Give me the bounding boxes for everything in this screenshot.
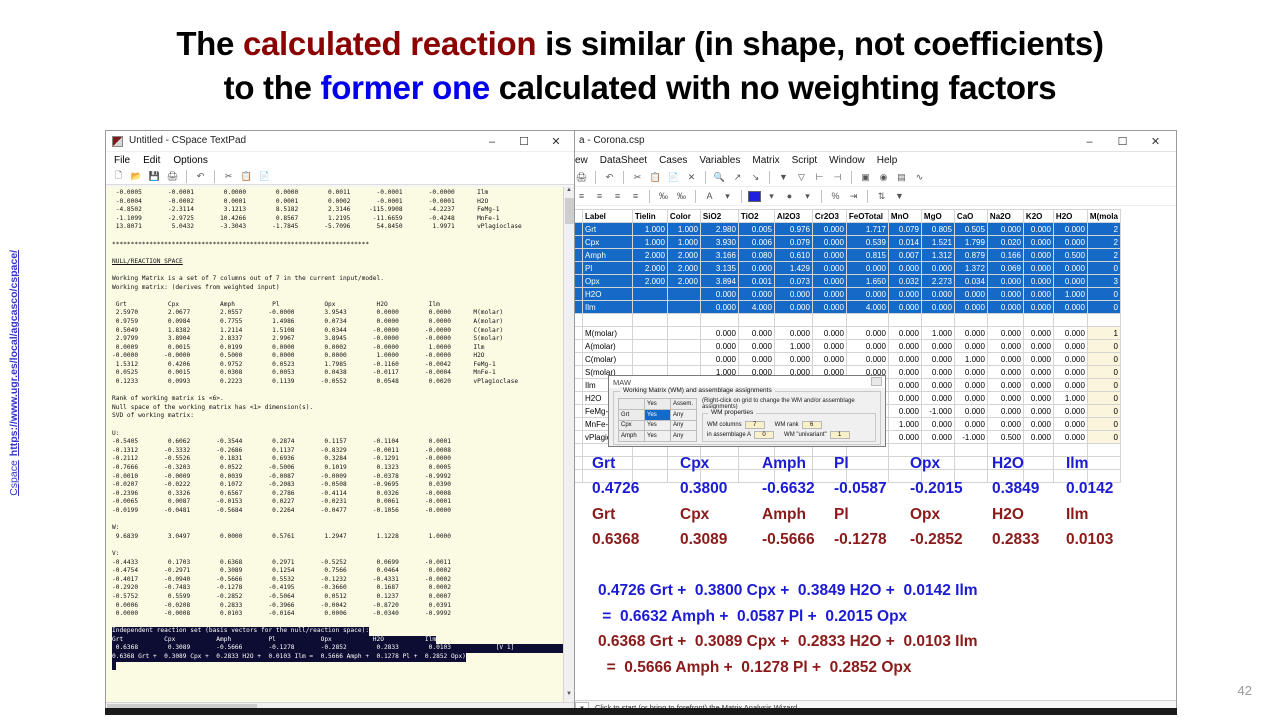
undo-icon[interactable]: ↶ xyxy=(193,169,208,184)
sort-az-icon[interactable]: ⇅ xyxy=(874,189,889,204)
cell-value[interactable]: 1.717 xyxy=(846,223,888,236)
cell-value[interactable]: 0.000 xyxy=(738,340,774,353)
cell-value[interactable]: 0.000 xyxy=(1053,431,1087,444)
cell-value[interactable]: 2.273 xyxy=(921,275,954,288)
cell-label[interactable]: C(molar) xyxy=(583,353,633,366)
cell-value[interactable]: 0.000 xyxy=(846,340,888,353)
align-right-icon[interactable]: ≡ xyxy=(610,189,625,204)
cell-value[interactable]: 1.000 xyxy=(921,327,954,340)
table-row[interactable]: H2O0.0000.0000.0000.0000.0000.0000.0000.… xyxy=(572,288,1121,301)
print-icon[interactable]: 🖨 xyxy=(165,169,180,184)
menu-script[interactable]: Script xyxy=(792,155,818,166)
cell-value[interactable]: 0.006 xyxy=(738,236,774,249)
cell-empty[interactable] xyxy=(1053,314,1087,327)
column-header-label[interactable]: Label xyxy=(583,210,633,223)
paste-icon[interactable]: 📄 xyxy=(666,170,681,185)
find-icon[interactable]: 🔍 xyxy=(712,170,727,185)
cell-value[interactable]: 0.000 xyxy=(700,353,738,366)
chevron-down-icon[interactable]: ▾ xyxy=(720,189,735,204)
cell-value[interactable]: 0.000 xyxy=(846,353,888,366)
cell-value[interactable]: 0.000 xyxy=(987,340,1023,353)
table-row[interactable]: Pl2.0002.0003.1350.0001.4290.0000.0000.0… xyxy=(572,262,1121,275)
cell-value[interactable] xyxy=(667,288,700,301)
cell-value[interactable]: 0.000 xyxy=(987,353,1023,366)
cell-value[interactable]: 2.000 xyxy=(632,262,667,275)
cell-value[interactable] xyxy=(667,327,700,340)
cell-label[interactable]: Opx xyxy=(583,275,633,288)
copy-icon[interactable]: 📋 xyxy=(648,170,663,185)
close-icon[interactable]: ✕ xyxy=(1139,131,1172,152)
cell-empty[interactable] xyxy=(738,314,774,327)
percent-icon[interactable]: % xyxy=(828,189,843,204)
cell-value[interactable]: 0.000 xyxy=(921,366,954,379)
menu-file[interactable]: File xyxy=(114,155,130,166)
cell-value[interactable]: 0.000 xyxy=(774,327,812,340)
decimal-decrease-icon[interactable]: ‰ xyxy=(674,189,689,204)
cell-value[interactable]: 0.000 xyxy=(812,275,846,288)
insert-row-icon[interactable]: ⊢ xyxy=(812,170,827,185)
cell-value[interactable]: 0.000 xyxy=(700,301,738,314)
matrix-wizard-icon[interactable]: ▣ xyxy=(858,170,873,185)
maw-prop-value[interactable]: 0 xyxy=(754,431,774,439)
cell-label[interactable]: Pl xyxy=(583,262,633,275)
cell-value[interactable] xyxy=(667,301,700,314)
cell-value[interactable]: 0.000 xyxy=(846,262,888,275)
column-header-cr2o3[interactable]: Cr2O3 xyxy=(812,210,846,223)
cell-value[interactable]: 3.166 xyxy=(700,249,738,262)
cell-value[interactable]: 1.799 xyxy=(954,236,987,249)
maximize-icon[interactable]: ☐ xyxy=(1106,131,1139,152)
cell-value[interactable]: 2.000 xyxy=(667,249,700,262)
cell-value[interactable]: 0.000 xyxy=(888,431,921,444)
cell-value[interactable]: 0.815 xyxy=(846,249,888,262)
cell-value[interactable]: 0.079 xyxy=(774,236,812,249)
cell-value[interactable]: 0 xyxy=(1087,366,1120,379)
cell-label[interactable]: Ilm xyxy=(583,301,633,314)
cell-value[interactable]: 0.000 xyxy=(921,431,954,444)
cell-value[interactable]: 0.000 xyxy=(1053,236,1087,249)
cell-value[interactable]: 0.000 xyxy=(846,327,888,340)
cell-value[interactable]: 0.000 xyxy=(921,379,954,392)
cell-value[interactable]: 0 xyxy=(1087,431,1120,444)
cell-value[interactable]: 0.000 xyxy=(1023,262,1053,275)
cell-empty[interactable] xyxy=(888,314,921,327)
cell-value[interactable]: 0.000 xyxy=(987,366,1023,379)
cell-label[interactable]: H2O xyxy=(583,288,633,301)
column-header-mno[interactable]: MnO xyxy=(888,210,921,223)
table-row[interactable]: Amph Yes Any xyxy=(619,431,697,442)
minimize-icon[interactable]: – xyxy=(1073,131,1106,152)
cell-value[interactable]: 0.000 xyxy=(1053,327,1087,340)
cell-value[interactable]: 0.000 xyxy=(1023,249,1053,262)
cell-label[interactable]: M(molar) xyxy=(583,327,633,340)
cell-value[interactable]: 4.000 xyxy=(738,301,774,314)
table-row[interactable]: M(molar)0.0000.0000.0000.0000.0000.0001.… xyxy=(572,327,1121,340)
cell-value[interactable]: 0.069 xyxy=(987,262,1023,275)
save-disk-icon[interactable]: 💾 xyxy=(147,169,162,184)
cell-value[interactable]: 1.312 xyxy=(921,249,954,262)
cell-value[interactable]: 0.000 xyxy=(888,392,921,405)
cell-value[interactable]: 1.000 xyxy=(632,223,667,236)
cell-value[interactable]: 0.000 xyxy=(954,405,987,418)
cell-value[interactable]: 0.000 xyxy=(888,262,921,275)
cell-value[interactable]: 0.166 xyxy=(987,249,1023,262)
cell-empty[interactable] xyxy=(987,314,1023,327)
table-row[interactable]: Cpx Yes Any xyxy=(619,420,697,431)
sort-desc-icon[interactable]: ↘ xyxy=(748,170,763,185)
cell-value[interactable] xyxy=(632,288,667,301)
cell-value[interactable]: 1.000 xyxy=(954,353,987,366)
cell-value[interactable]: 0.000 xyxy=(987,301,1023,314)
cell-value[interactable] xyxy=(632,353,667,366)
cell-value[interactable]: 0.000 xyxy=(1023,379,1053,392)
cell-value[interactable]: 0.073 xyxy=(774,275,812,288)
cell-value[interactable]: 0 xyxy=(1087,392,1120,405)
cell-value[interactable]: 2 xyxy=(1087,236,1120,249)
open-folder-icon[interactable]: 📂 xyxy=(129,169,144,184)
maw-row-wm[interactable]: Yes xyxy=(645,420,671,431)
cell-value[interactable]: 0.000 xyxy=(812,249,846,262)
cell-value[interactable] xyxy=(632,301,667,314)
cell-value[interactable]: 0.000 xyxy=(921,288,954,301)
cell-empty[interactable] xyxy=(700,314,738,327)
cell-value[interactable]: 0.080 xyxy=(738,249,774,262)
cell-value[interactable]: 0.000 xyxy=(954,418,987,431)
cell-value[interactable]: 0.539 xyxy=(846,236,888,249)
cell-value[interactable]: 0.000 xyxy=(1023,418,1053,431)
table-row[interactable]: A(molar)0.0000.0001.0000.0000.0000.0000.… xyxy=(572,340,1121,353)
maw-row-assem[interactable]: Any xyxy=(671,409,697,420)
table-row[interactable]: Grt Yes Any xyxy=(619,409,697,420)
cell-label[interactable]: Cpx xyxy=(583,236,633,249)
scroll-up-icon[interactable]: ▲ xyxy=(564,187,574,198)
scrollbar-thumb[interactable] xyxy=(565,198,574,224)
cell-value[interactable]: 3 xyxy=(1087,275,1120,288)
align-center-icon[interactable]: ≡ xyxy=(592,189,607,204)
cell-value[interactable]: 0.000 xyxy=(812,340,846,353)
textpad-vertical-scrollbar[interactable]: ▲ ▼ xyxy=(563,187,574,702)
cell-value[interactable]: 0.000 xyxy=(738,353,774,366)
maw-row-assem[interactable]: Any xyxy=(671,420,697,431)
column-header-cao[interactable]: CaO xyxy=(954,210,987,223)
cell-value[interactable]: 0.000 xyxy=(1053,405,1087,418)
maw-row-wm[interactable]: Yes xyxy=(645,431,671,442)
cell-value[interactable]: 0.000 xyxy=(1023,340,1053,353)
cell-value[interactable]: 0.000 xyxy=(954,392,987,405)
cell-value[interactable]: 0.000 xyxy=(812,223,846,236)
color-swatch-blue[interactable] xyxy=(748,191,761,202)
cell-value[interactable]: 0.000 xyxy=(812,262,846,275)
close-icon[interactable]: ✕ xyxy=(540,131,572,152)
decimal-increase-icon[interactable]: ‰ xyxy=(656,189,671,204)
maw-close-icon[interactable] xyxy=(871,377,882,386)
cell-value[interactable]: 0.034 xyxy=(954,275,987,288)
cell-value[interactable]: 0.000 xyxy=(1053,223,1087,236)
cut-scissors-icon[interactable]: ✂ xyxy=(221,169,236,184)
cell-value[interactable]: 0.000 xyxy=(921,262,954,275)
cell-value[interactable]: 0.000 xyxy=(812,301,846,314)
menu-matrix[interactable]: Matrix xyxy=(752,155,779,166)
maw-prop-value[interactable]: 7 xyxy=(745,421,765,429)
cell-value[interactable]: 0.000 xyxy=(987,288,1023,301)
undo-icon[interactable]: ↶ xyxy=(602,170,617,185)
cell-value[interactable]: -1.000 xyxy=(921,405,954,418)
paste-icon[interactable]: 📄 xyxy=(257,169,272,184)
cell-value[interactable]: 2.000 xyxy=(667,275,700,288)
cell-empty[interactable] xyxy=(774,314,812,327)
cell-value[interactable]: 2.980 xyxy=(700,223,738,236)
cell-value[interactable]: 0.000 xyxy=(888,353,921,366)
cell-value[interactable]: 0.000 xyxy=(921,418,954,431)
cell-value[interactable]: 0.805 xyxy=(921,223,954,236)
menu-variables[interactable]: Variables xyxy=(699,155,740,166)
cut-scissors-icon[interactable]: ✂ xyxy=(630,170,645,185)
maw-dialog[interactable]: MAW Working Matrix (WM) and assemblage a… xyxy=(608,375,886,447)
side-link-label[interactable]: Cspace xyxy=(8,460,20,496)
textpad-text-area[interactable]: -0.0005 -0.0001 0.0000 0.0000 0.0011 -0.… xyxy=(106,187,574,702)
side-credit-link[interactable]: Cspace https://www.ugr.es/local/agcasco/… xyxy=(8,250,20,496)
cell-value[interactable]: 3.894 xyxy=(700,275,738,288)
cell-value[interactable]: 4.000 xyxy=(846,301,888,314)
cell-value[interactable]: 1.372 xyxy=(954,262,987,275)
chevron-down-icon[interactable]: ▾ xyxy=(800,189,815,204)
cell-value[interactable]: -1.000 xyxy=(954,431,987,444)
cell-value[interactable]: 0.000 xyxy=(1053,262,1087,275)
cell-value[interactable]: 1.000 xyxy=(774,340,812,353)
cell-empty[interactable] xyxy=(632,314,667,327)
cell-value[interactable]: 0.000 xyxy=(1023,431,1053,444)
cell-value[interactable]: 3.930 xyxy=(700,236,738,249)
cell-value[interactable]: 0.000 xyxy=(987,418,1023,431)
cell-value[interactable]: 0.005 xyxy=(738,223,774,236)
cell-value[interactable] xyxy=(632,327,667,340)
cell-value[interactable]: 0.000 xyxy=(888,340,921,353)
cell-value[interactable]: 0 xyxy=(1087,301,1120,314)
cell-value[interactable]: 0.000 xyxy=(812,236,846,249)
maw-phase-grid[interactable]: Yes Assem. Grt Yes Any Cpx Yes Any Amp xyxy=(618,398,697,442)
cell-label[interactable]: Grt xyxy=(583,223,633,236)
cell-value[interactable]: 0.000 xyxy=(1023,236,1053,249)
cell-value[interactable]: 0.000 xyxy=(1053,275,1087,288)
bullet-icon[interactable]: ● xyxy=(782,189,797,204)
font-color-icon[interactable]: A xyxy=(702,189,717,204)
cell-empty[interactable] xyxy=(1023,314,1053,327)
cell-value[interactable]: 3.135 xyxy=(700,262,738,275)
cell-value[interactable]: 0 xyxy=(1087,405,1120,418)
cell-value[interactable]: 0.000 xyxy=(921,353,954,366)
cell-value[interactable]: 0.000 xyxy=(888,327,921,340)
cell-value[interactable]: 0.020 xyxy=(987,236,1023,249)
cell-value[interactable]: 1.000 xyxy=(1053,392,1087,405)
cell-value[interactable] xyxy=(667,353,700,366)
cell-value[interactable]: 0.000 xyxy=(774,301,812,314)
cell-value[interactable]: 0.000 xyxy=(1023,405,1053,418)
cell-value[interactable]: 0.000 xyxy=(812,288,846,301)
cell-value[interactable]: 0.879 xyxy=(954,249,987,262)
menu-options[interactable]: Options xyxy=(173,155,207,166)
cell-value[interactable]: 0.000 xyxy=(954,288,987,301)
column-header-tielin[interactable]: Tielin xyxy=(632,210,667,223)
cell-value[interactable]: 0.014 xyxy=(888,236,921,249)
cell-value[interactable]: 1 xyxy=(1087,327,1120,340)
chevron-down-icon[interactable]: ▾ xyxy=(764,189,779,204)
filter-icon[interactable]: ▼ xyxy=(776,170,791,185)
cell-value[interactable]: 0.000 xyxy=(738,288,774,301)
copy-icon[interactable]: 📋 xyxy=(239,169,254,184)
cell-value[interactable]: 0.500 xyxy=(1053,249,1087,262)
script-icon[interactable]: ∿ xyxy=(912,170,927,185)
autofilter-icon[interactable]: ▼ xyxy=(892,189,907,204)
cell-value[interactable]: 0.000 xyxy=(700,288,738,301)
cell-value[interactable]: 0 xyxy=(1087,262,1120,275)
cell-value[interactable]: 0.000 xyxy=(888,379,921,392)
menu-window[interactable]: Window xyxy=(829,155,865,166)
cell-value[interactable]: 0.000 xyxy=(954,366,987,379)
new-document-icon[interactable]: 🗋 xyxy=(111,169,126,184)
cell-value[interactable]: 0.000 xyxy=(954,327,987,340)
menu-help[interactable]: Help xyxy=(877,155,898,166)
maw-prop-value[interactable]: 6 xyxy=(802,421,822,429)
cell-value[interactable]: 0.000 xyxy=(954,379,987,392)
cell-value[interactable]: 1.650 xyxy=(846,275,888,288)
table-row[interactable]: Cpx1.0001.0003.9300.0060.0790.0000.5390.… xyxy=(572,236,1121,249)
cell-value[interactable]: 0.000 xyxy=(700,327,738,340)
sort-asc-icon[interactable]: ↗ xyxy=(730,170,745,185)
cell-value[interactable]: 0.000 xyxy=(987,405,1023,418)
cell-value[interactable]: 0.000 xyxy=(1053,340,1087,353)
cell-value[interactable]: 0 xyxy=(1087,379,1120,392)
cell-value[interactable]: 0.000 xyxy=(921,301,954,314)
cell-value[interactable]: 0.000 xyxy=(987,223,1023,236)
cell-value[interactable]: 0.000 xyxy=(1023,327,1053,340)
cell-empty[interactable] xyxy=(921,314,954,327)
cell-value[interactable]: 0.000 xyxy=(738,327,774,340)
cell-value[interactable]: 0.000 xyxy=(1053,379,1087,392)
maximize-icon[interactable]: ☐ xyxy=(508,131,540,152)
cell-label[interactable]: A(molar) xyxy=(583,340,633,353)
scroll-down-icon[interactable]: ▼ xyxy=(564,691,574,702)
cell-empty[interactable] xyxy=(583,314,633,327)
cell-empty[interactable] xyxy=(667,314,700,327)
cell-value[interactable]: 0.000 xyxy=(774,288,812,301)
align-justify-icon[interactable]: ≡ xyxy=(628,189,643,204)
cell-value[interactable]: 1.000 xyxy=(1053,288,1087,301)
cell-value[interactable]: 2 xyxy=(1087,249,1120,262)
table-row[interactable]: Opx2.0002.0003.8940.0010.0730.0001.6500.… xyxy=(572,275,1121,288)
cell-value[interactable]: 0.000 xyxy=(987,392,1023,405)
column-header-al2o3[interactable]: Al2O3 xyxy=(774,210,812,223)
table-row[interactable]: Ilm0.0004.0000.0000.0004.0000.0000.0000.… xyxy=(572,301,1121,314)
cell-value[interactable]: 2.000 xyxy=(632,275,667,288)
minimize-icon[interactable]: – xyxy=(476,131,508,152)
cell-value[interactable]: 0.000 xyxy=(1023,353,1053,366)
delete-x-icon[interactable]: ✕ xyxy=(684,170,699,185)
column-header-sio2[interactable]: SiO2 xyxy=(700,210,738,223)
menu-datasheet[interactable]: DataSheet xyxy=(600,155,647,166)
cell-value[interactable]: 0.000 xyxy=(888,301,921,314)
column-header-na2o[interactable]: Na2O xyxy=(987,210,1023,223)
cell-value[interactable]: 0.000 xyxy=(1023,301,1053,314)
column-header-tio2[interactable]: TiO2 xyxy=(738,210,774,223)
cell-value[interactable]: 0 xyxy=(1087,340,1120,353)
cell-value[interactable]: 0.000 xyxy=(921,340,954,353)
cell-value[interactable]: 0.000 xyxy=(888,405,921,418)
cell-value[interactable]: 0.976 xyxy=(774,223,812,236)
maw-prop-value[interactable]: 1 xyxy=(830,431,850,439)
column-header-feototal[interactable]: FeOTotal xyxy=(846,210,888,223)
cell-value[interactable]: 0.000 xyxy=(812,353,846,366)
cell-value[interactable]: 0 xyxy=(1087,288,1120,301)
maw-row-assem[interactable]: Any xyxy=(671,431,697,442)
cell-value[interactable]: 2.000 xyxy=(667,262,700,275)
cell-value[interactable]: 1.000 xyxy=(888,418,921,431)
column-header-m-mola[interactable]: M(mola xyxy=(1087,210,1120,223)
cell-value[interactable]: 0.505 xyxy=(954,223,987,236)
cell-value[interactable]: 0.000 xyxy=(812,327,846,340)
cell-empty[interactable] xyxy=(954,314,987,327)
table-row[interactable]: C(molar)0.0000.0000.0000.0000.0000.0000.… xyxy=(572,353,1121,366)
cell-value[interactable]: 0.000 xyxy=(987,275,1023,288)
cell-value[interactable]: 0.000 xyxy=(888,366,921,379)
cell-empty[interactable] xyxy=(812,314,846,327)
cell-value[interactable]: 0.000 xyxy=(921,392,954,405)
indent-icon[interactable]: ⇥ xyxy=(846,189,861,204)
cell-value[interactable]: 0.000 xyxy=(1053,301,1087,314)
cell-value[interactable]: 0.001 xyxy=(738,275,774,288)
reaction-icon[interactable]: ◉ xyxy=(876,170,891,185)
print-icon[interactable]: 🖨 xyxy=(574,170,589,185)
cell-value[interactable]: 0.007 xyxy=(888,249,921,262)
column-header-h2o[interactable]: H2O xyxy=(1053,210,1087,223)
cell-value[interactable]: 0.000 xyxy=(738,262,774,275)
cell-value[interactable]: 0.610 xyxy=(774,249,812,262)
cell-value[interactable]: 0.000 xyxy=(954,301,987,314)
filter-clear-icon[interactable]: ▽ xyxy=(794,170,809,185)
cell-value[interactable]: 0.000 xyxy=(1023,275,1053,288)
cell-value[interactable] xyxy=(632,340,667,353)
cell-value[interactable]: 0.500 xyxy=(987,431,1023,444)
cell-label[interactable]: Amph xyxy=(583,249,633,262)
cell-value[interactable]: 0.000 xyxy=(987,327,1023,340)
append-row-icon[interactable]: ⊣ xyxy=(830,170,845,185)
table-row[interactable]: Amph2.0002.0003.1660.0800.6100.0000.8150… xyxy=(572,249,1121,262)
column-header-mgo[interactable]: MgO xyxy=(921,210,954,223)
align-left-icon[interactable]: ≡ xyxy=(574,189,589,204)
maw-row-wm[interactable]: Yes xyxy=(645,409,671,420)
cell-value[interactable]: 1.429 xyxy=(774,262,812,275)
cell-empty[interactable] xyxy=(846,314,888,327)
cell-empty[interactable] xyxy=(1087,314,1120,327)
cell-value[interactable]: 0 xyxy=(1087,418,1120,431)
cell-value[interactable]: 1.521 xyxy=(921,236,954,249)
cell-value[interactable]: 0.000 xyxy=(888,288,921,301)
cell-value[interactable]: 0.000 xyxy=(1053,366,1087,379)
table-view-icon[interactable]: ▤ xyxy=(894,170,909,185)
cell-value[interactable]: 0.000 xyxy=(954,340,987,353)
cell-value[interactable]: 0 xyxy=(1087,353,1120,366)
cell-value[interactable]: 1.000 xyxy=(667,236,700,249)
cell-value[interactable]: 0.000 xyxy=(700,340,738,353)
cell-value[interactable] xyxy=(667,340,700,353)
cell-value[interactable]: 0.000 xyxy=(1023,366,1053,379)
column-header-k2o[interactable]: K2O xyxy=(1023,210,1053,223)
menu-view[interactable]: ew xyxy=(575,155,588,166)
column-header-color[interactable]: Color xyxy=(667,210,700,223)
cell-value[interactable]: 0.000 xyxy=(1023,288,1053,301)
cell-value[interactable]: 1.000 xyxy=(667,223,700,236)
menu-cases[interactable]: Cases xyxy=(659,155,687,166)
cell-value[interactable]: 0.000 xyxy=(1023,392,1053,405)
